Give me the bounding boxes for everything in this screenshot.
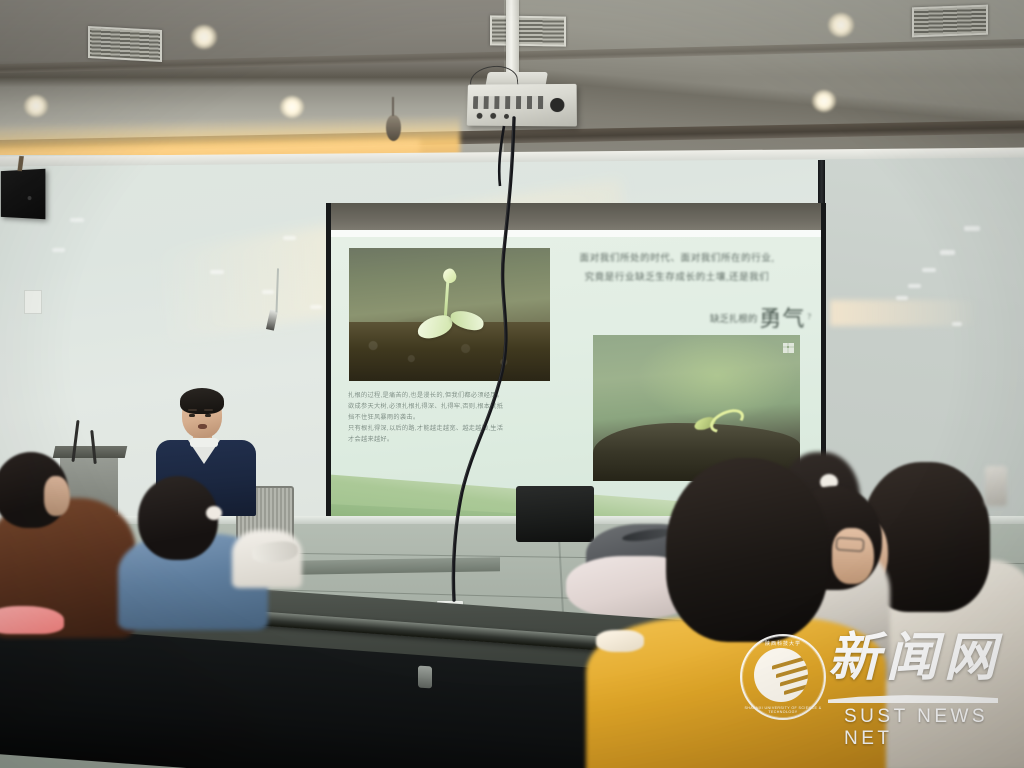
ceiling-downlight-1 bbox=[191, 25, 217, 49]
table-leg-cap bbox=[418, 666, 432, 689]
presenter-mouth bbox=[198, 424, 207, 429]
hanging-pendant-light bbox=[386, 115, 401, 141]
wall-reflection-5 bbox=[262, 290, 274, 294]
podium-top bbox=[53, 446, 128, 458]
glasses-icon bbox=[836, 537, 865, 552]
wall-speaker bbox=[1, 169, 46, 220]
presenter-hair bbox=[180, 388, 224, 414]
presenter-collar bbox=[190, 438, 218, 447]
wall-reflection-7 bbox=[964, 226, 980, 231]
student-yellow-jacket-head bbox=[666, 458, 828, 642]
student-blue-denim-hair-tie bbox=[206, 506, 222, 520]
wall-reflection-8 bbox=[940, 250, 955, 255]
wall-switch-plate[interactable] bbox=[24, 290, 42, 314]
lecture-hall-photo: 面对我们所处的时代、面对我们所在的行业, 究竟是行业缺乏生存成长的土壤,还是我们… bbox=[0, 0, 1024, 768]
projector-knob-1 bbox=[477, 113, 483, 119]
wall-reflection-12 bbox=[952, 322, 962, 326]
projector-port-panel bbox=[473, 96, 544, 109]
ceiling-projector bbox=[467, 84, 577, 127]
projector-knob-3 bbox=[504, 114, 509, 119]
student-brown-fur-coat-face bbox=[44, 476, 70, 516]
wall-reflection-9 bbox=[922, 268, 936, 272]
ceiling-downlight-3 bbox=[24, 95, 48, 117]
wall-reflection-10 bbox=[908, 284, 921, 288]
wall-reflection-3 bbox=[210, 270, 224, 274]
seal-text-english: SHAANXI UNIVERSITY OF SCIENCE & TECHNOLO… bbox=[742, 706, 824, 714]
hvac-vent-left bbox=[88, 26, 162, 62]
watermark: 陕西科技大学 SHAANXI UNIVERSITY OF SCIENCE & T… bbox=[740, 628, 1005, 738]
hvac-vent-center bbox=[490, 15, 566, 46]
wall-reflection-2 bbox=[52, 248, 65, 252]
presenter-brow-right bbox=[204, 409, 213, 411]
wall-reflection-1 bbox=[70, 218, 84, 222]
wall-reflection-6 bbox=[310, 305, 322, 309]
water-bottle bbox=[985, 466, 1007, 506]
ceiling-downlight-2 bbox=[828, 13, 854, 37]
hvac-vent-right bbox=[912, 5, 988, 38]
seal-inner-disc bbox=[754, 648, 808, 702]
presenter-eye-right bbox=[205, 414, 211, 417]
watermark-chinese-text: 新闻网 bbox=[828, 630, 1002, 688]
projector-lens bbox=[550, 98, 564, 112]
seal-bar-emblem bbox=[768, 656, 808, 696]
ceiling-downlight-4 bbox=[280, 96, 304, 118]
student-yellow-jacket-collar bbox=[596, 630, 644, 652]
university-seal-icon: 陕西科技大学 SHAANXI UNIVERSITY OF SCIENCE & T… bbox=[740, 634, 826, 720]
seal-text-chinese: 陕西科技大学 bbox=[742, 640, 824, 647]
presenter-eye-left bbox=[189, 414, 195, 417]
watermark-english-text: SUST NEWS NET bbox=[844, 706, 1005, 750]
student-blue-denim-head bbox=[138, 476, 218, 560]
watermark-swoosh bbox=[828, 694, 998, 703]
projector-knob-2 bbox=[490, 113, 496, 119]
dark-chair-center[interactable] bbox=[516, 486, 594, 542]
wall-reflection-11 bbox=[896, 296, 908, 300]
ceiling-downlight-5 bbox=[812, 90, 836, 112]
presenter-brow-left bbox=[188, 409, 197, 411]
wall-reflection-4 bbox=[283, 236, 296, 240]
pink-item-on-table bbox=[0, 606, 64, 634]
